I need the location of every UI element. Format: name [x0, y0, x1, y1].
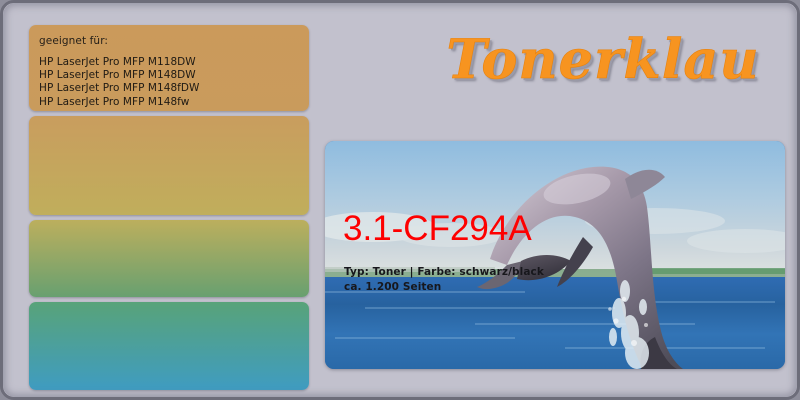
- toner-label-card: geeignet für: HP LaserJet Pro MFP M118DW…: [0, 0, 800, 400]
- decorative-panel-amber: [29, 116, 309, 215]
- decorative-panel-olive: [29, 220, 309, 297]
- brand-title: Tonerklau: [421, 27, 785, 91]
- compatibility-heading: geeignet für:: [39, 35, 108, 47]
- compatibility-panel-stack: geeignet für: HP LaserJet Pro MFP M118DW…: [29, 25, 309, 369]
- decorative-panel-teal: [29, 302, 309, 390]
- list-item: HP LaserJet Pro MFP M118DW: [39, 56, 200, 69]
- product-type-color: Typ: Toner | Farbe: schwarz/black: [344, 266, 544, 278]
- list-item: HP LaserJet Pro MFP M148DW: [39, 69, 200, 82]
- compatibility-model-list: HP LaserJet Pro MFP M118DW HP LaserJet P…: [39, 56, 200, 109]
- product-page-yield: ca. 1.200 Seiten: [344, 281, 441, 293]
- list-item: HP LaserJet Pro MFP M148fw: [39, 96, 200, 109]
- product-code: 3.1-CF294A: [343, 209, 532, 249]
- compatibility-panel-primary: geeignet für: HP LaserJet Pro MFP M118DW…: [29, 25, 309, 111]
- product-photo-dolphin: [325, 141, 785, 369]
- list-item: HP LaserJet Pro MFP M148fDW: [39, 82, 200, 95]
- dolphin-photo-illustration: [325, 141, 785, 369]
